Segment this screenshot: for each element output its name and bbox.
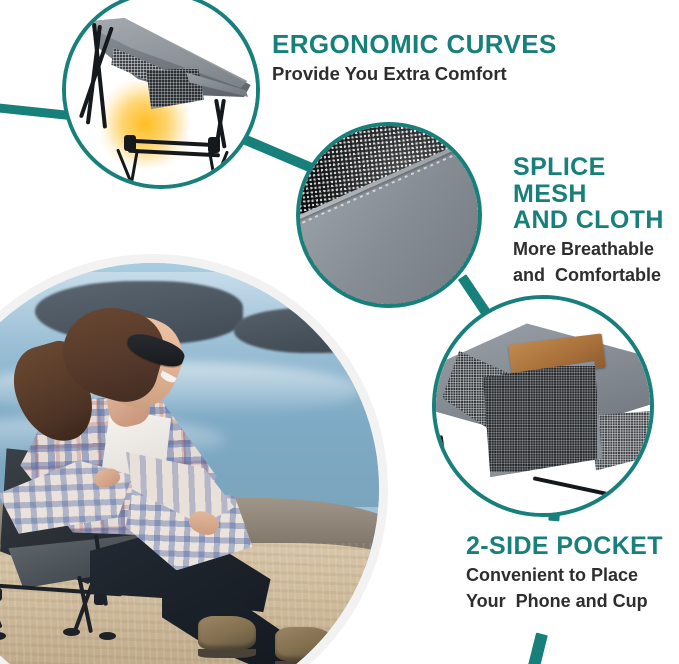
- callout-circle-side-pocket: [432, 295, 654, 517]
- person-in-chair: [0, 263, 379, 664]
- feature-text-ergonomic: ERGONOMIC CURVES Provide You Extra Comfo…: [272, 31, 557, 84]
- pocket-frame-rail-bottom: [533, 476, 636, 502]
- pocket-closeup-photo: [436, 299, 650, 513]
- feature-headline-pocket: 2-SIDE POCKET: [466, 533, 663, 560]
- chair-side-pocket: [144, 67, 204, 109]
- infographic-canvas: ERGONOMIC CURVES Provide You Extra Comfo…: [0, 0, 679, 664]
- feature-text-pocket: 2-SIDE POCKET Convenient to Place Your P…: [466, 533, 663, 612]
- mesh-storage-pocket: [478, 361, 602, 477]
- feature-subline-splice-line2: and Comfortable: [513, 265, 679, 286]
- feature-headline-ergonomic: ERGONOMIC CURVES: [272, 31, 557, 59]
- callout-circle-ergonomic-chair: [62, 0, 260, 189]
- feature-subline-splice-line1: More Breathable: [513, 239, 679, 260]
- feature-subline-pocket-line2: Your Phone and Cup: [466, 591, 663, 612]
- connector-line-bottom-stub: [527, 633, 548, 664]
- lifestyle-photo: [0, 263, 379, 664]
- feature-subline-ergonomic: Provide You Extra Comfort: [272, 63, 557, 85]
- hiking-boot-2: [275, 627, 333, 661]
- chair-hub-left: [124, 135, 136, 151]
- pocket-frame-pole-left: [439, 435, 454, 513]
- chair-product-photo: [66, 0, 256, 185]
- feature-headline-splice-line1: SPLICE MESH: [513, 154, 679, 207]
- hiking-boot-sole-1: [198, 649, 256, 658]
- feature-text-splice: SPLICE MESH AND CLOTH More Breathable an…: [513, 154, 679, 286]
- feature-subline-pocket-line1: Convenient to Place: [466, 565, 663, 586]
- feature-headline-splice-line2: AND CLOTH: [513, 207, 679, 234]
- hiking-boot-1: [198, 616, 256, 650]
- lifestyle-photo-circle: [0, 254, 388, 664]
